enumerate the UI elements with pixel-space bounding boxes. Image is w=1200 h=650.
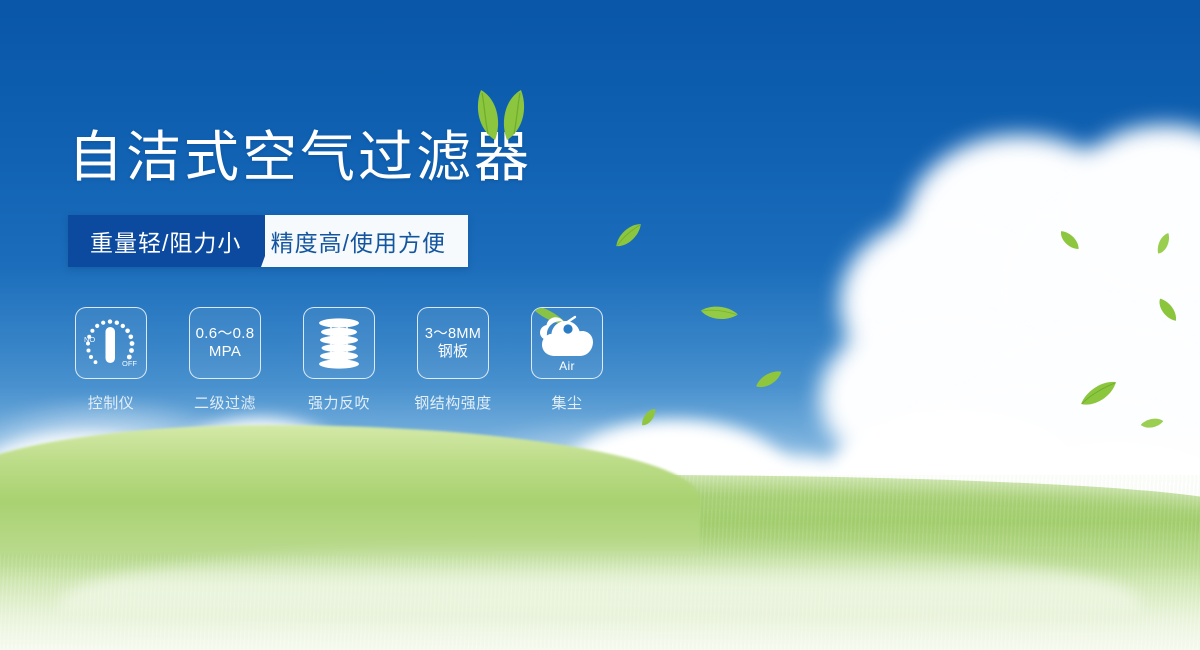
- pressure-value-line1: 0.6～0.8: [196, 325, 255, 344]
- banner-content: 自洁式空气过滤器 重量轻/阻力小 精度高/使用方便: [68, 128, 748, 413]
- feature-label: 钢结构强度: [414, 392, 492, 413]
- product-banner: 自洁式空气过滤器 重量轻/阻力小 精度高/使用方便: [0, 0, 1200, 650]
- svg-text:NO: NO: [84, 335, 95, 344]
- feature-item-steel-strength[interactable]: 3～8MM 钢板 钢结构强度: [410, 307, 496, 413]
- feature-label: 控制仪: [88, 392, 135, 413]
- grass-foreground-glow: [0, 565, 1200, 650]
- feature-label: 二级过滤: [194, 392, 256, 413]
- feature-item-control-gauge[interactable]: NO OFF 控制仪: [68, 307, 154, 413]
- air-caption: Air: [535, 359, 599, 373]
- feature-box: 0.6～0.8 MPA: [189, 307, 261, 379]
- steel-value-line2: 钢板: [438, 343, 469, 362]
- feature-box: Air: [531, 307, 603, 379]
- air-cloud-icon: Air: [535, 314, 599, 372]
- feature-label: 强力反吹: [308, 392, 370, 413]
- feature-box: 3～8MM 钢板: [417, 307, 489, 379]
- tag-primary: 重量轻/阻力小: [68, 215, 261, 267]
- page-title: 自洁式空气过滤器: [68, 128, 748, 187]
- feature-item-dust-collection[interactable]: Air 集尘: [524, 307, 610, 413]
- filter-stack-icon: [312, 315, 366, 371]
- feature-box: [303, 307, 375, 379]
- title-row: 自洁式空气过滤器: [68, 128, 748, 187]
- tag-divider: [261, 215, 264, 267]
- feature-icon-list: NO OFF 控制仪 0.6～0.8 MPA 二级过滤: [68, 307, 748, 413]
- feature-tag-bar: 重量轻/阻力小 精度高/使用方便: [68, 215, 468, 267]
- floating-leaf-icon: [1139, 417, 1164, 430]
- steel-value-line1: 3～8MM: [425, 325, 481, 343]
- feature-label: 集尘: [551, 392, 582, 413]
- pressure-value-line2: MPA: [209, 343, 241, 362]
- sprout-leaves-icon: [466, 86, 536, 142]
- feature-item-two-stage-filter[interactable]: 0.6～0.8 MPA 二级过滤: [182, 307, 268, 413]
- feature-box: NO OFF: [75, 307, 147, 379]
- gauge-icon: NO OFF: [80, 314, 142, 372]
- svg-text:OFF: OFF: [122, 359, 137, 368]
- feature-item-reverse-blow[interactable]: 强力反吹: [296, 307, 382, 413]
- tag-secondary: 精度高/使用方便: [265, 215, 468, 267]
